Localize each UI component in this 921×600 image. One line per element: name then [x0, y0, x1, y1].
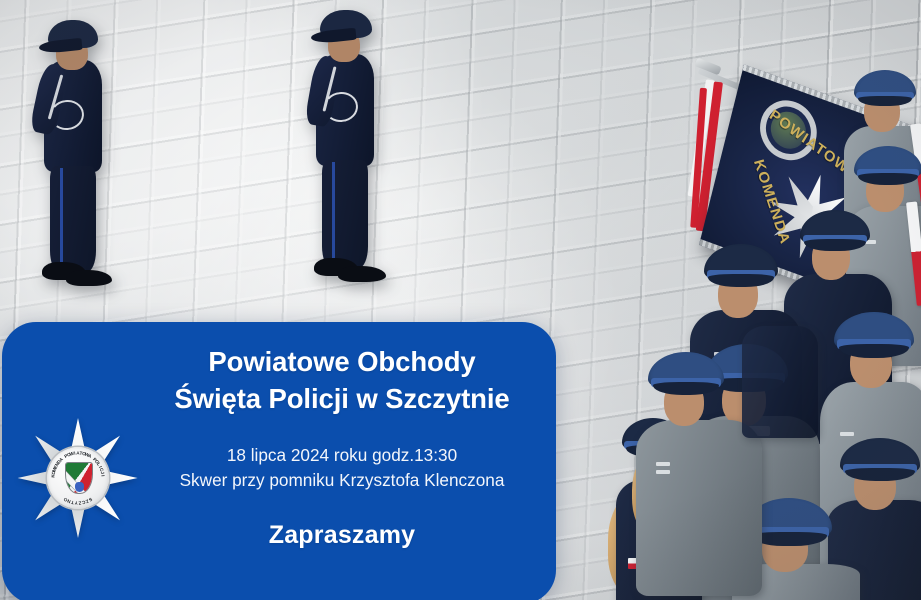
- police-badge-logo: KOMENDA POWIATOWA POLICJI SZCZYTNO: [18, 418, 138, 538]
- panel-text-column: Powiatowe Obchody Święta Policji w Szczy…: [142, 322, 542, 600]
- badge-center-disc: KOMENDA POWIATOWA POLICJI SZCZYTNO: [47, 447, 109, 509]
- szczytno-coat-of-arms: [65, 462, 93, 494]
- event-info-panel: KOMENDA POWIATOWA POLICJI SZCZYTNO Powia…: [2, 322, 556, 600]
- event-details: 18 lipca 2024 roku godz.13:30 Skwer przy…: [142, 417, 542, 493]
- event-location: Skwer przy pomniku Krzysztofa Klenczona: [142, 468, 542, 493]
- shield-blue-charge: [75, 482, 84, 492]
- event-datetime: 18 lipca 2024 roku godz.13:30: [227, 445, 457, 465]
- event-poster: POWIATOWA POLICJI KOMENDA: [0, 0, 921, 600]
- page-title: Powiatowe Obchody Święta Policji w Szczy…: [142, 322, 542, 417]
- headline-line-2: Święta Policji w Szczytnie: [142, 381, 542, 418]
- headline-line-1: Powiatowe Obchody: [208, 346, 475, 377]
- invitation-text: Zapraszamy: [142, 493, 542, 550]
